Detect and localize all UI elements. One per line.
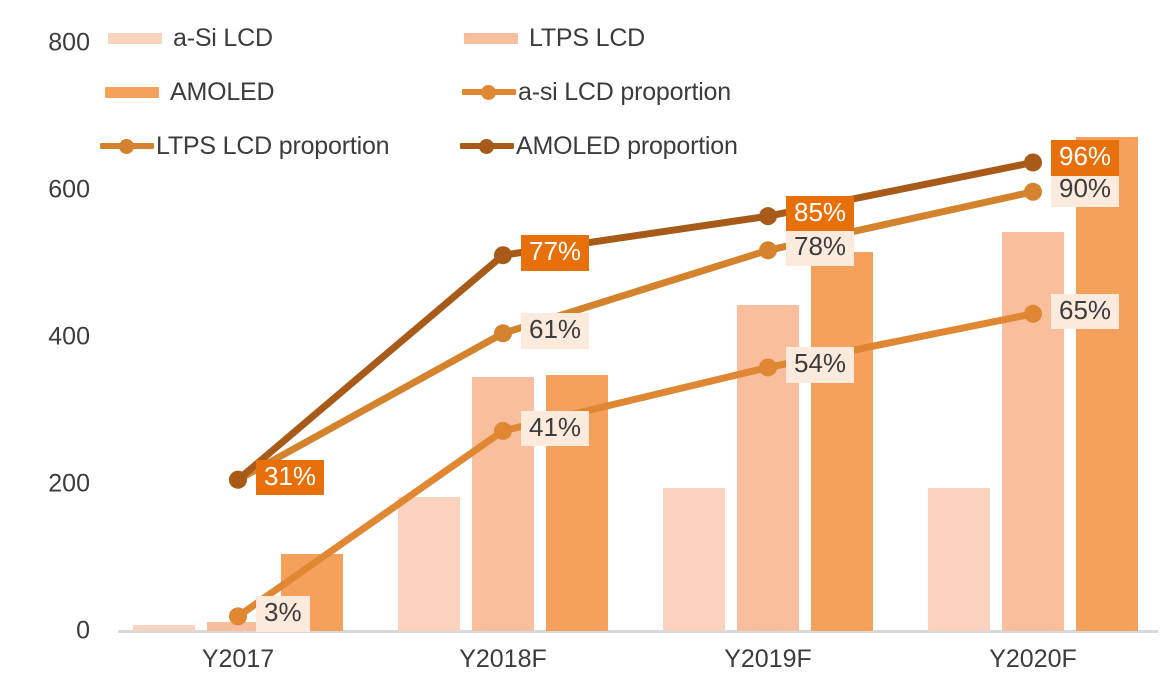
x-axis-tick-label: Y2019F	[724, 645, 812, 674]
line-data-point[interactable]: LTPS LCD proportion Y2019F: 78%	[759, 241, 777, 259]
data-label: 65%	[1051, 294, 1119, 329]
data-label: 90%	[1051, 172, 1119, 207]
line-data-point[interactable]: AMOLED proportion Y2017: 31%	[229, 471, 247, 489]
data-label: 3%	[256, 596, 310, 631]
line-data-point[interactable]: AMOLED proportion Y2018F: 77%	[494, 246, 512, 264]
line-data-point[interactable]: a-si LCD proportion Y2019F: 54%	[759, 358, 777, 376]
line-data-point[interactable]: a-si LCD proportion Y2017: 3%	[229, 607, 247, 625]
line-data-point[interactable]: AMOLED proportion Y2020F: 96%	[1024, 153, 1042, 171]
x-axis-tick-label: Y2017	[202, 645, 274, 674]
plot-area: a-si LCD proportion Y2017: 3%a-si LCD pr…	[0, 0, 1166, 696]
line-data-point[interactable]: a-si LCD proportion Y2020F: 65%	[1024, 305, 1042, 323]
x-axis-tick-label: Y2018F	[459, 645, 547, 674]
data-label: 61%	[521, 313, 589, 348]
line-data-point[interactable]: AMOLED proportion Y2019F: 85%	[759, 207, 777, 225]
line-data-point[interactable]: a-si LCD proportion Y2018F: 41%	[494, 422, 512, 440]
x-axis-tick-label: Y2020F	[989, 645, 1077, 674]
line-data-point[interactable]: LTPS LCD proportion Y2018F: 61%	[494, 324, 512, 342]
data-label: 78%	[786, 230, 854, 265]
data-label: 41%	[521, 411, 589, 446]
line-series-path	[238, 162, 1033, 479]
chart-container: a-Si LCD LTPS LCD AMOLED a-si LCD propor…	[0, 0, 1166, 696]
data-label: 54%	[786, 347, 854, 382]
line-data-point[interactable]: LTPS LCD proportion Y2020F: 90%	[1024, 183, 1042, 201]
data-label: 96%	[1051, 140, 1119, 175]
line-series-path	[238, 314, 1033, 617]
data-label: 31%	[256, 460, 324, 495]
data-label: 85%	[786, 196, 854, 231]
data-label: 77%	[521, 235, 589, 270]
